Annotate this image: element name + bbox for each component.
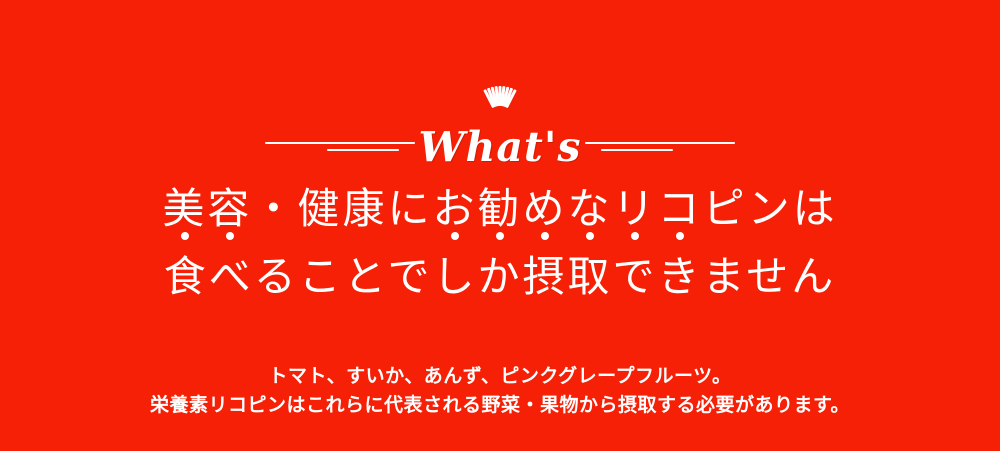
headline-char-emphasized: リ [613,182,658,235]
headline-char-emphasized: お [432,182,477,235]
radiating-rays-ornament [0,86,1000,120]
headline-char-emphasized: 勧 [477,182,522,235]
eyebrow-script-label: What's [0,120,1000,174]
headline-char-emphasized: な [568,182,613,235]
eyebrow-row: What's [0,120,1000,176]
headline-char: ・ [252,182,297,235]
headline-line-2: 食べることでしか摂取できません [0,250,1000,303]
headline-char: ピ [703,182,748,235]
headline-line-1: 美容・健康にお勧めなリコピンは [0,182,1000,235]
headline-char-emphasized: コ [658,182,703,235]
headline-char-emphasized: め [523,182,568,235]
body-copy: トマト、すいか、あんず、ピンクグレープフルーツ。 栄養素リコピンはこれらに代表さ… [0,362,1000,420]
headline-char-emphasized: 容 [207,182,252,235]
page-title: 美容・健康にお勧めなリコピンは 食べることでしか摂取できません [0,182,1000,303]
body-line-1: トマト、すいか、あんず、ピンクグレープフルーツ。 [0,362,1000,391]
headline-char-emphasized: 美 [162,182,207,235]
headline-char: ン [748,182,793,235]
headline-char: 康 [342,182,387,235]
promo-banner: What's 美容・健康にお勧めなリコピンは 食べることでしか摂取できません ト… [0,0,1000,451]
body-line-2: 栄養素リコピンはこれらに代表される野菜・果物から摂取する必要があります。 [0,391,1000,420]
headline-char: 健 [297,182,342,235]
headline-char: に [387,182,432,235]
headline-char: は [793,182,838,235]
